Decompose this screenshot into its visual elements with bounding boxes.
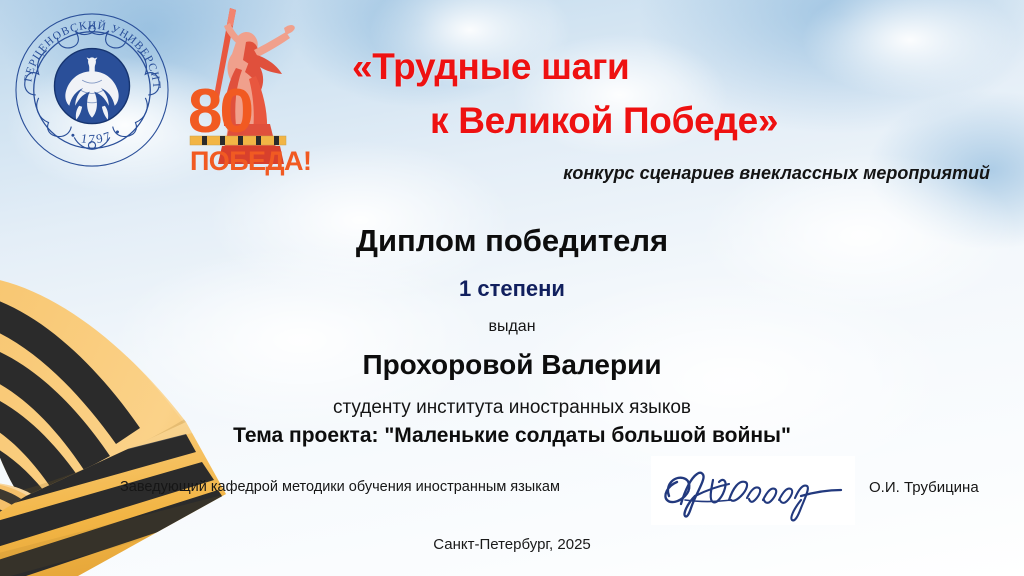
title-line-2: к Великой Победе» (330, 94, 970, 148)
project-theme: Тема проекта: "Маленькие солдаты большой… (0, 424, 1024, 448)
page-title: «Трудные шаги к Великой Победе» (330, 40, 970, 147)
diploma-title: Диплом победителя (0, 223, 1024, 259)
place-and-year: Санкт-Петербург, 2025 (0, 536, 1024, 553)
recipient-name: Прохоровой Валерии (0, 349, 1024, 381)
diploma-degree: 1 степени (0, 276, 1024, 302)
signature-image (651, 456, 855, 525)
recipient-role: студенту института иностранных языков (0, 397, 1024, 419)
issued-label: выдан (0, 318, 1024, 336)
signer-title: Заведующий кафедрой методики обучения ин… (120, 479, 560, 495)
victory-80-anniversary-icon: 80 ПОБЕДА! (186, 6, 312, 181)
svg-text:ПОБЕДА!: ПОБЕДА! (190, 146, 311, 176)
herzen-university-emblem-icon: ГЕРЦЕНОВСКИЙ УНИВЕРСИТЕТ • HERZEN UNIVER… (13, 11, 171, 169)
contest-subtitle: конкурс сценариев внеклассных мероприяти… (330, 163, 990, 184)
certificate-canvas: ГЕРЦЕНОВСКИЙ УНИВЕРСИТЕТ • HERZEN UNIVER… (0, 0, 1024, 576)
title-line-1: «Трудные шаги (330, 40, 970, 94)
signer-name: О.И. Трубицина (869, 479, 979, 496)
svg-text:80: 80 (188, 77, 251, 146)
